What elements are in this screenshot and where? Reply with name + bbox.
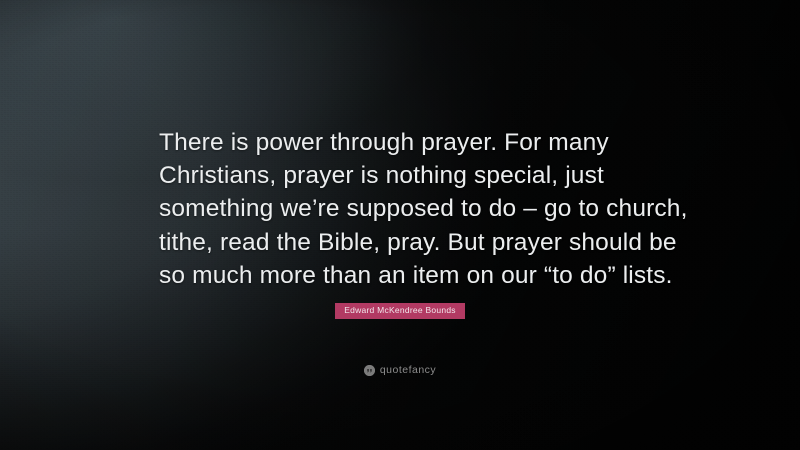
author-attribution: Edward McKendree Bounds — [0, 303, 800, 319]
quote-line: Christians, prayer is nothing special, j… — [159, 159, 679, 192]
quote-line: something we’re supposed to do – go to c… — [159, 192, 679, 225]
quote-line: so much more than an item on our “to do”… — [159, 259, 679, 292]
quote-line: There is power through prayer. For many — [159, 126, 679, 159]
quote-wallpaper: There is power through prayer. For many … — [0, 0, 800, 450]
author-name-badge[interactable]: Edward McKendree Bounds — [335, 303, 465, 319]
quote-mark-icon — [364, 365, 375, 376]
quote-text-block: There is power through prayer. For many … — [159, 126, 679, 292]
quote-line: tithe, read the Bible, pray. But prayer … — [159, 226, 679, 259]
watermark-brand-label: quotefancy — [380, 365, 436, 376]
site-watermark[interactable]: quotefancy — [0, 365, 800, 376]
